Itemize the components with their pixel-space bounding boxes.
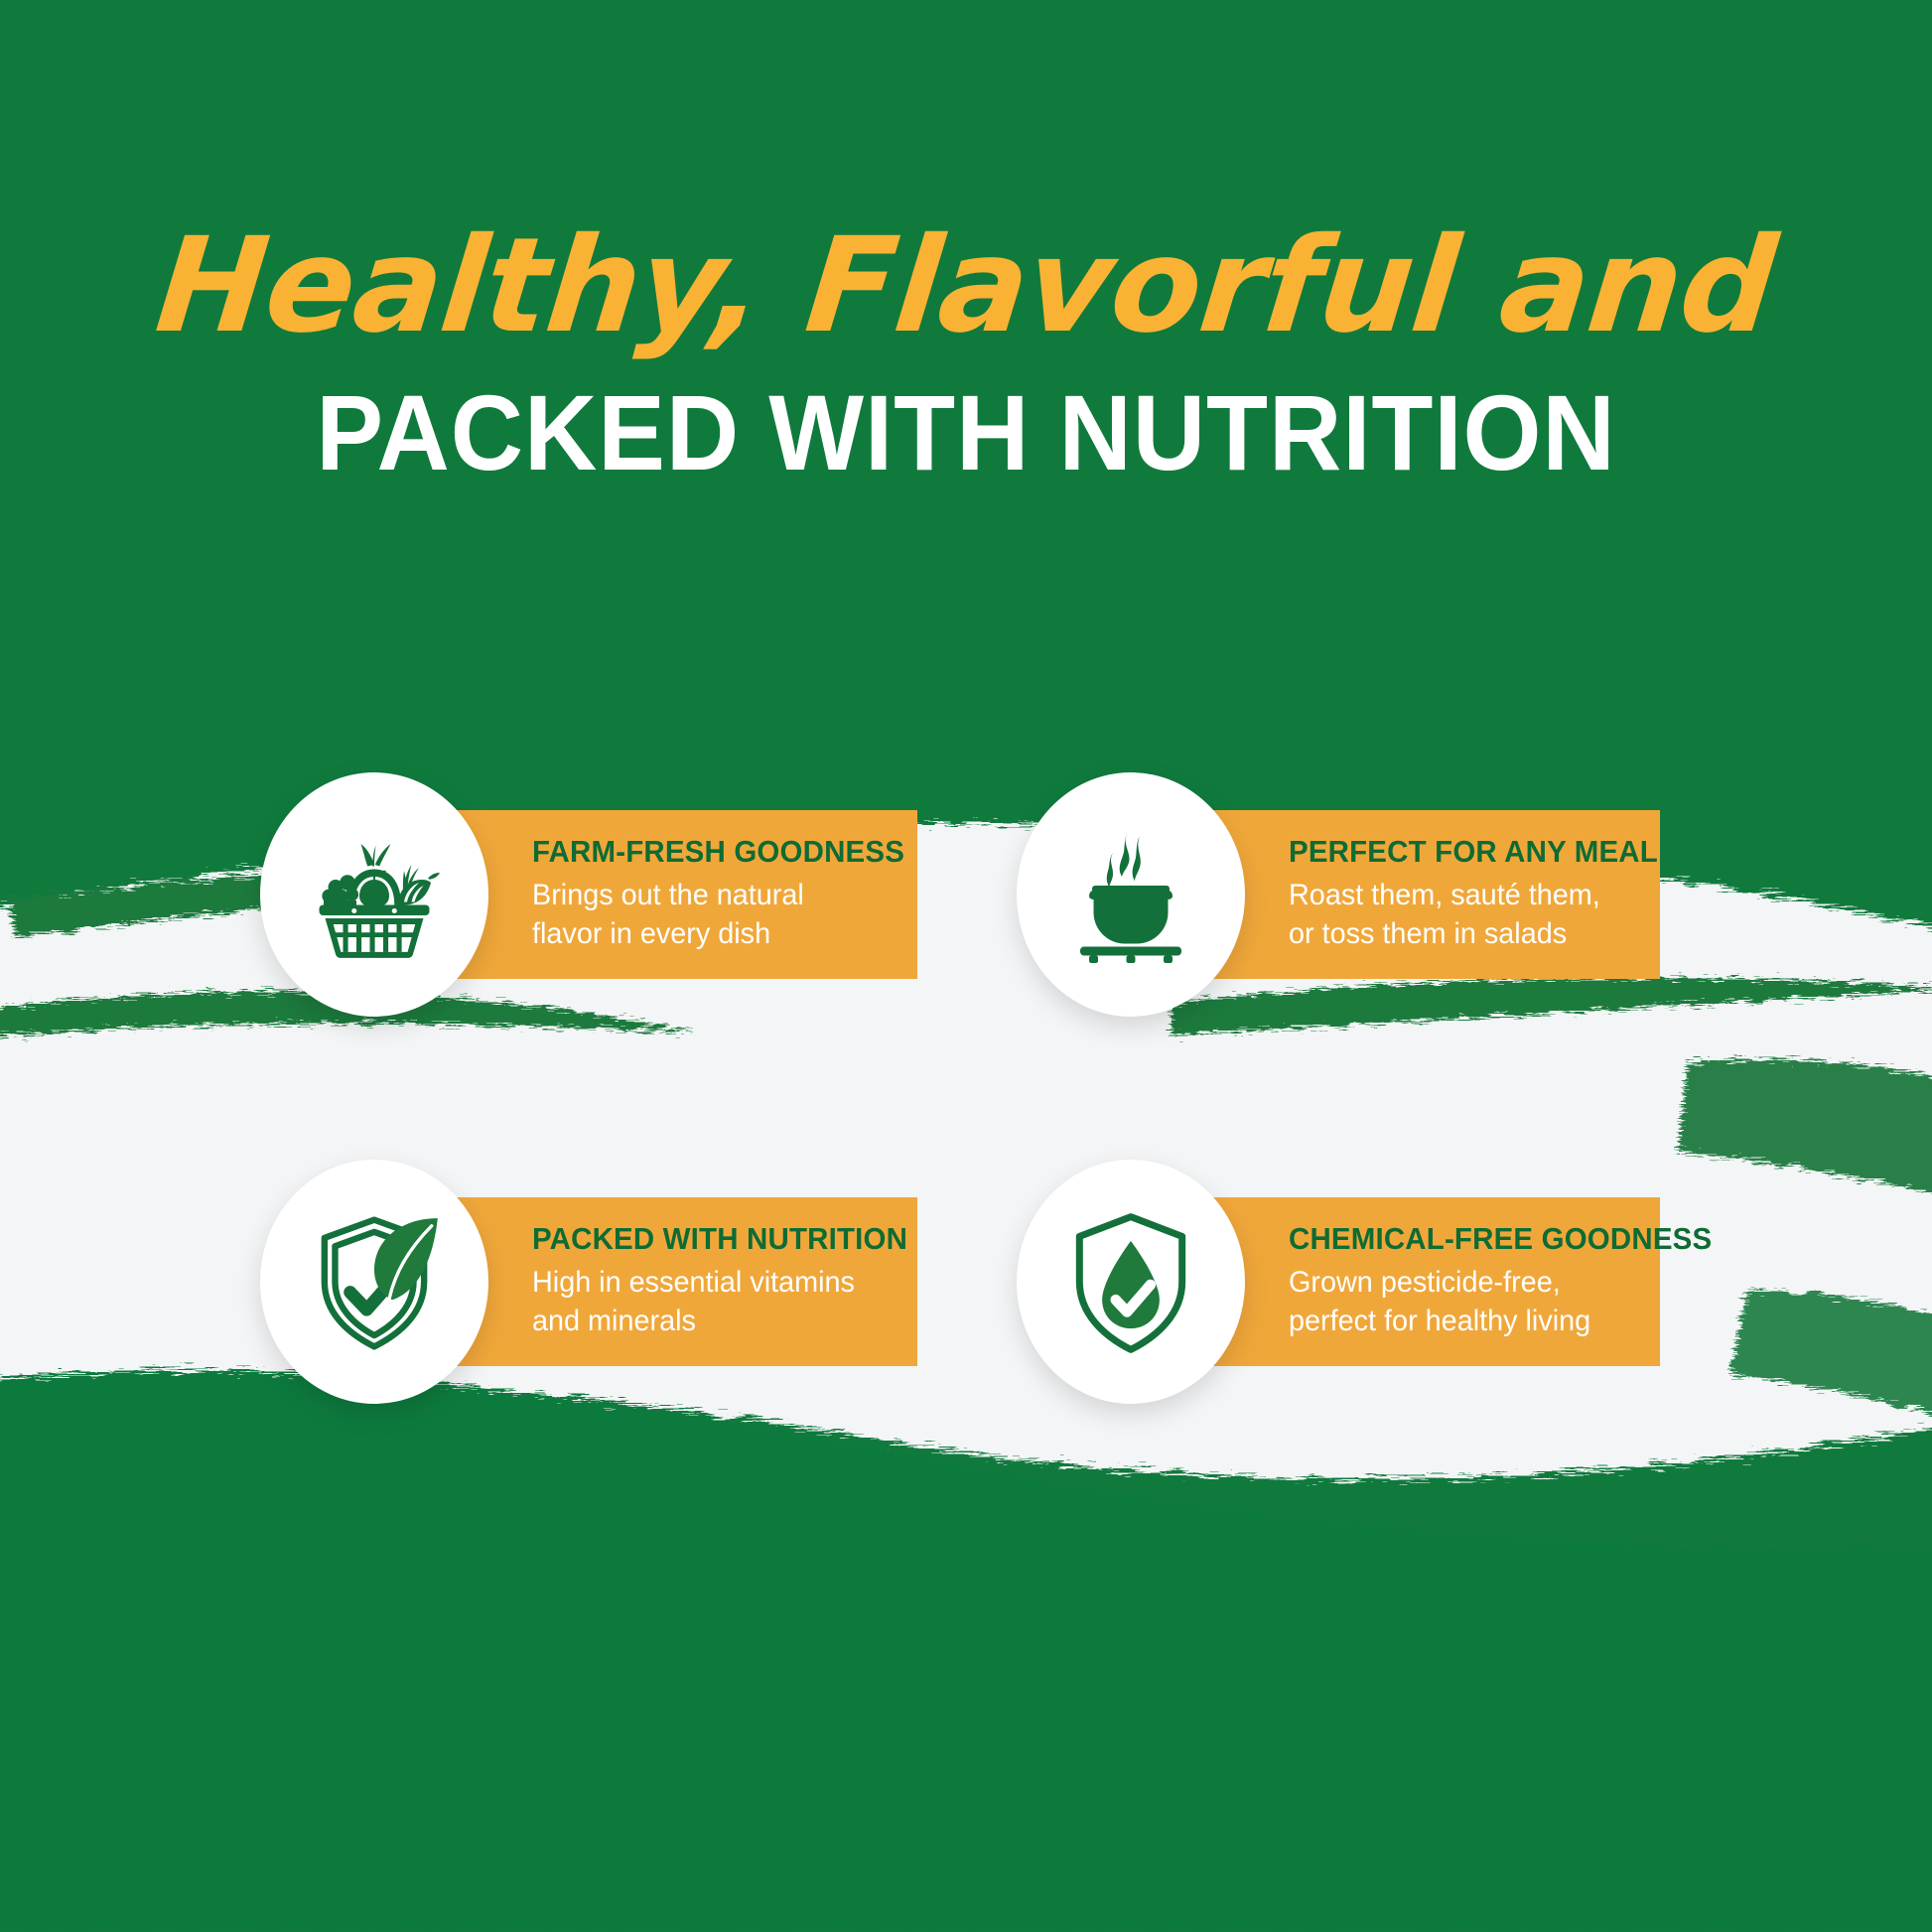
card-description: Brings out the natural flavor in every d… bbox=[532, 876, 874, 953]
page-title: Healthy, Flavorful and PACKED WITH NUTRI… bbox=[0, 220, 1932, 486]
vegetable-basket-icon bbox=[300, 820, 449, 969]
card-title: CHEMICAL-FREE GOODNESS bbox=[1289, 1221, 1613, 1257]
card-text-band: PACKED WITH NUTRITION High in essential … bbox=[437, 1197, 917, 1367]
card-description: High in essential vitamins and minerals bbox=[532, 1263, 874, 1340]
headline-block-line: PACKED WITH NUTRITION bbox=[58, 379, 1873, 486]
promo-poster: Healthy, Flavorful and PACKED WITH NUTRI… bbox=[0, 0, 1932, 1932]
card-title: PERFECT FOR ANY MEAL bbox=[1289, 834, 1613, 870]
icon-badge bbox=[1017, 772, 1245, 1017]
cooking-pot-steam-icon bbox=[1056, 820, 1205, 969]
card-title: PACKED WITH NUTRITION bbox=[532, 1221, 870, 1257]
shield-droplet-check-icon bbox=[1055, 1206, 1206, 1357]
icon-badge bbox=[260, 772, 488, 1017]
shield-leaf-check-icon bbox=[299, 1206, 450, 1357]
icon-badge bbox=[260, 1160, 488, 1404]
card-text-band: FARM-FRESH GOODNESS Brings out the natur… bbox=[437, 810, 917, 980]
card-text-band: PERFECT FOR ANY MEAL Roast them, sauté t… bbox=[1193, 810, 1660, 980]
feature-card-chemical-free[interactable]: CHEMICAL-FREE GOODNESS Grown pesticide-f… bbox=[1017, 1160, 1660, 1404]
icon-badge bbox=[1017, 1160, 1245, 1404]
card-description: Grown pesticide-free, perfect for health… bbox=[1289, 1263, 1616, 1340]
feature-card-any-meal[interactable]: PERFECT FOR ANY MEAL Roast them, sauté t… bbox=[1017, 772, 1660, 1017]
card-title: FARM-FRESH GOODNESS bbox=[532, 834, 870, 870]
feature-card-farm-fresh[interactable]: FARM-FRESH GOODNESS Brings out the natur… bbox=[260, 772, 917, 1017]
card-text-band: CHEMICAL-FREE GOODNESS Grown pesticide-f… bbox=[1193, 1197, 1660, 1367]
card-description: Roast them, sauté them, or toss them in … bbox=[1289, 876, 1616, 953]
feature-card-nutrition[interactable]: PACKED WITH NUTRITION High in essential … bbox=[260, 1160, 917, 1404]
headline-script-line: Healthy, Flavorful and bbox=[0, 220, 1932, 351]
